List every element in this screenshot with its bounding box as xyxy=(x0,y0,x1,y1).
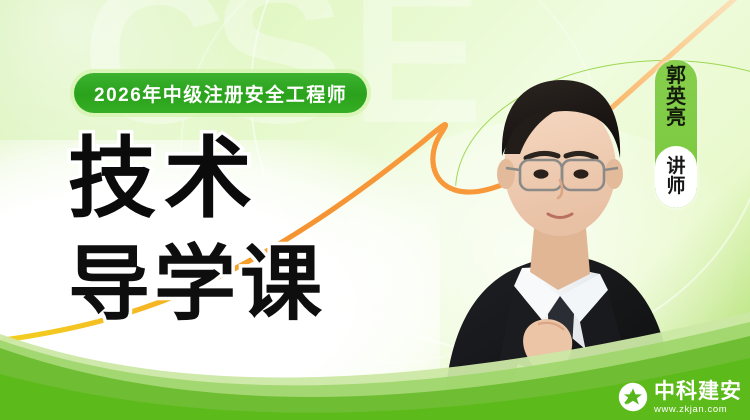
instructor-photo xyxy=(410,28,690,420)
course-banner: C S E xyxy=(0,0,750,420)
brand-logo-text: 中科建安 www.zkjan.com xyxy=(654,381,742,415)
brand-url: www.zkjan.com xyxy=(654,405,742,415)
instructor-name: 郭英亮 xyxy=(661,66,691,130)
brand-name: 中科建安 xyxy=(654,381,742,402)
instructor-badge: 郭英亮 讲师 xyxy=(655,60,697,208)
course-title-line1: 技术 xyxy=(68,135,260,223)
brand-logo[interactable]: 中科建安 www.zkjan.com xyxy=(618,381,742,415)
instructor-role-pill: 讲师 xyxy=(655,146,697,208)
course-subtitle-text: 2026年中级注册安全工程师 xyxy=(94,80,347,107)
course-title-line2: 导学课 xyxy=(68,244,326,326)
instructor-role: 讲师 xyxy=(663,157,689,197)
star-mountain-icon xyxy=(618,382,648,412)
course-subtitle-badge: 2026年中级注册安全工程师 xyxy=(74,73,367,113)
